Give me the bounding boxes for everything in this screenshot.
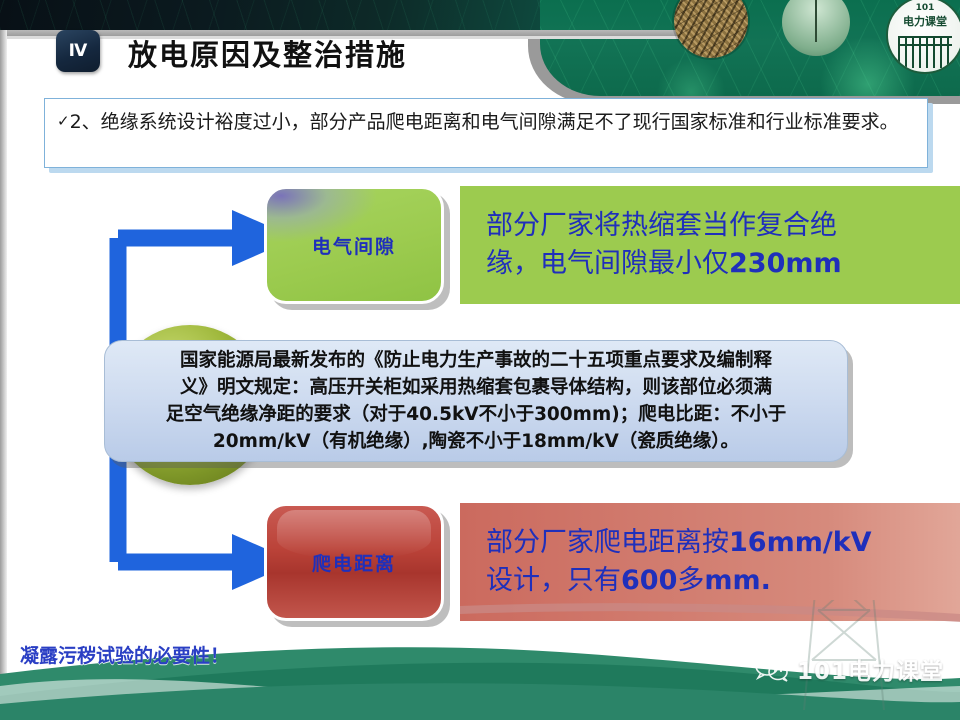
logo-mid-text: 电力课堂 (888, 13, 960, 29)
regulation-callout-box: 国家能源局最新发布的《防止电力生产事故的二十五项重点要求及编制释 义》明文规定：… (104, 340, 848, 462)
footer-decoration: 凝露污秽试验的必要性！ 101电力课堂 (0, 600, 960, 720)
row2-line1-bold: 16mm/kV (729, 527, 872, 558)
regulation-line-1: 国家能源局最新发布的《防止电力生产事故的二十五项重点要求及编制释 (119, 347, 833, 374)
row-panel-text-green: 部分厂家将热缩套当作复合绝 缘，电气间隙最小仅230mm (460, 207, 858, 283)
regulation-callout: 国家能源局最新发布的《防止电力生产事故的二十五项重点要求及编制释 义》明文规定：… (104, 340, 848, 462)
row1-tag-label[interactable]: 电气间隙 (264, 186, 444, 304)
footer-note: 凝露污秽试验的必要性！ (20, 641, 229, 668)
watermark-text: 101电力课堂 (797, 652, 944, 686)
lead-statement-text: 2、绝缘系统设计裕度过小，部分产品爬电距离和电气间隙满足不了现行国家标准和行业标… (70, 111, 899, 133)
row2-line1-prefix: 部分厂家爬电距离按 (486, 527, 729, 558)
row-electrical-clearance[interactable]: 部分厂家将热缩套当作复合绝 缘，电气间隙最小仅230mm 电气间隙 (264, 186, 960, 316)
wechat-icon (755, 656, 789, 682)
row2-line2-mid: 多 (677, 565, 704, 596)
slide-canvas: 101 电力课堂 Ⅳ 放电原因及整治措施 ✓2、绝缘系统设计裕度过小，部分产品爬… (0, 0, 960, 720)
row2-line2-bold2: mm. (704, 565, 771, 596)
lead-statement-box: ✓2、绝缘系统设计裕度过小，部分产品爬电距离和电气间隙满足不了现行国家标准和行业… (44, 98, 928, 168)
watermark: 101电力课堂 (755, 652, 944, 686)
row1-line2-prefix: 缘，电气间隙最小仅 (486, 248, 729, 279)
logo-building-icon (898, 36, 952, 68)
header-photo-switchgear-icon (674, 0, 748, 58)
regulation-line-4: 20mm/kV（有机绝缘）,陶瓷不小于18mm/kV（瓷质绝缘）。 (119, 428, 833, 455)
lead-statement: ✓2、绝缘系统设计裕度过小，部分产品爬电距离和电气间隙满足不了现行国家标准和行业… (44, 98, 928, 168)
row1-line1: 部分厂家将热缩套当作复合绝 (486, 210, 837, 241)
lead-statement-paragraph: ✓2、绝缘系统设计裕度过小，部分产品爬电距离和电气间隙满足不了现行国家标准和行业… (57, 106, 915, 137)
regulation-line-3: 足空气绝缘净距的要求（对于40.5kV不小于300mm)；爬电比距：不小于 (119, 401, 833, 428)
check-icon: ✓ (57, 112, 70, 130)
section-number-badge: Ⅳ (56, 30, 100, 72)
logo-top-text: 101 (888, 3, 960, 13)
regulation-line-2: 义》明文规定：高压开关柜如采用热缩套包裹导体结构，则该部位必须满 (119, 374, 833, 401)
row1-line2-bold: 230mm (729, 248, 842, 279)
row-panel-green: 部分厂家将热缩套当作复合绝 缘，电气间隙最小仅230mm (460, 186, 960, 304)
page-title: 放电原因及整治措施 (128, 32, 407, 74)
row-panel-text-red: 部分厂家爬电距离按16mm/kV 设计，只有600多mm. (460, 524, 888, 600)
row2-line2-bold: 600 (621, 565, 677, 596)
row2-line2-prefix: 设计，只有 (486, 565, 621, 596)
brand-logo-icon: 101 电力课堂 (886, 0, 960, 74)
